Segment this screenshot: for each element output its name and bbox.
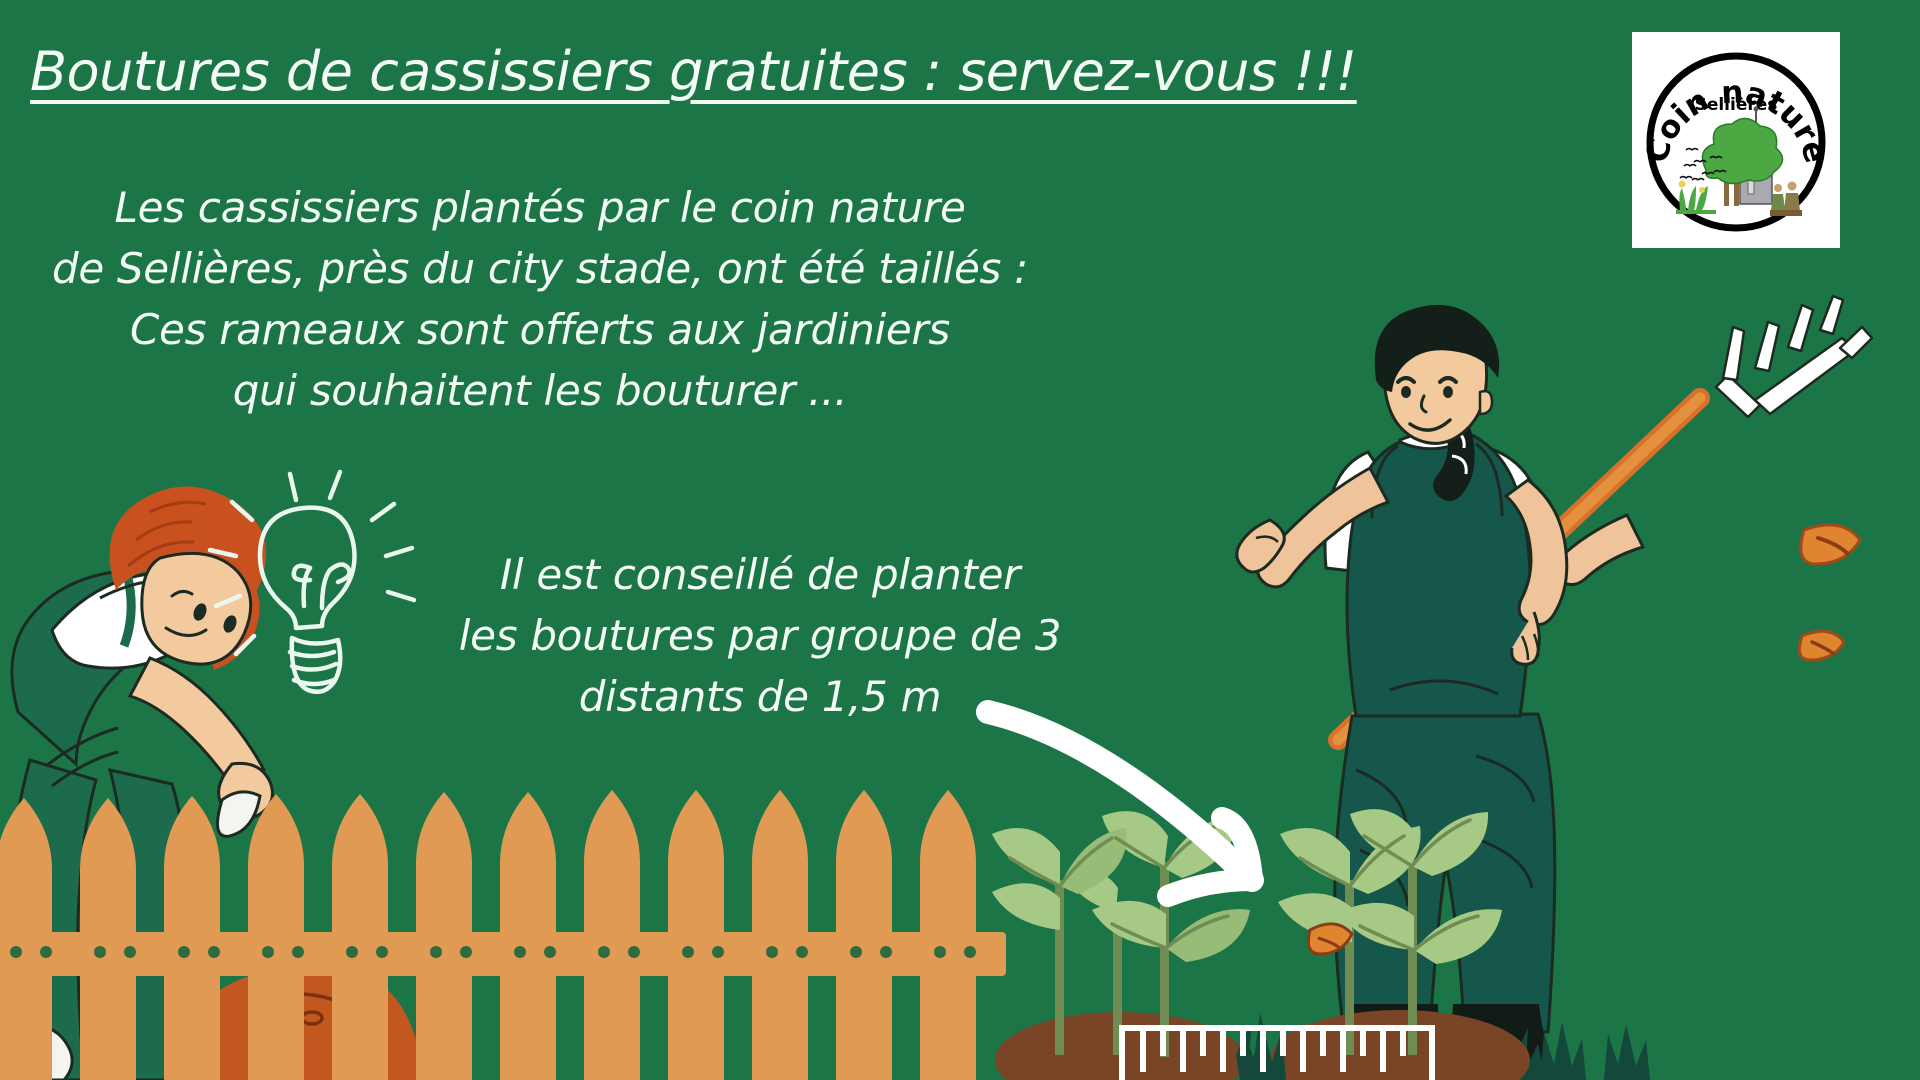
body-line: de Sellières, près du city stade, ont ét… xyxy=(0,239,1080,300)
body-line: Les cassissiers plantés par le coin natu… xyxy=(0,178,1080,239)
body-line: qui souhaitent les bouturer ... xyxy=(0,361,1080,422)
poster-canvas: Boutures de cassissiers gratuites : serv… xyxy=(0,0,1920,1080)
page-title: Boutures de cassissiers gratuites : serv… xyxy=(30,40,1357,103)
tip-paragraph: Il est conseillé de planter les boutures… xyxy=(400,545,1120,728)
tip-line: distants de 1,5 m xyxy=(400,667,1120,728)
body-line: Ces rameaux sont offerts aux jardiniers xyxy=(0,300,1080,361)
tip-line: les boutures par groupe de 3 xyxy=(400,606,1120,667)
tip-line: Il est conseillé de planter xyxy=(400,545,1120,606)
logo-sub-text: Sellières xyxy=(1695,95,1778,115)
coin-nature-logo: Coin nature Sellières xyxy=(1632,32,1840,248)
body-paragraph: Les cassissiers plantés par le coin natu… xyxy=(0,178,1080,422)
